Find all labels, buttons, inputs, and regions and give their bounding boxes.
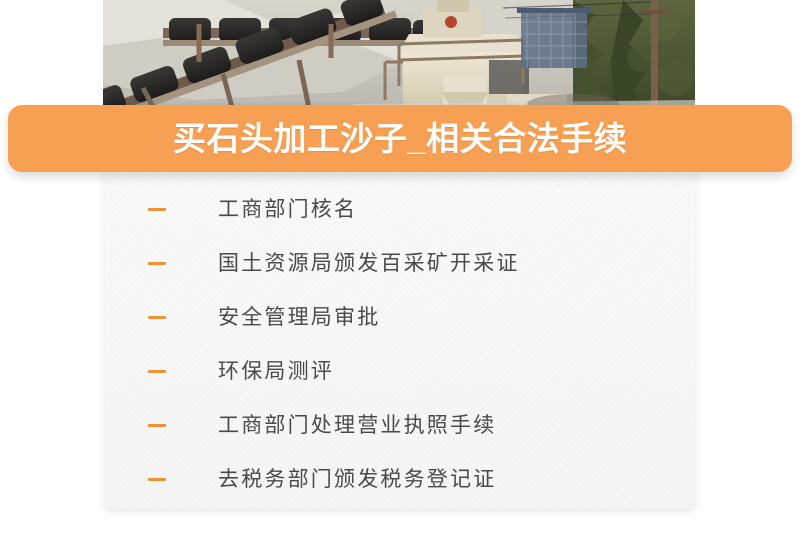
list-item-label: 去税务部门颁发税务登记证: [218, 469, 496, 490]
list-item-label: 工商部门核名: [218, 199, 357, 220]
list-item: 工商部门处理营业执照手续: [105, 398, 695, 452]
list-item: 安全管理局审批: [105, 290, 695, 344]
page-canvas: 买石头加工沙子_相关合法手续 工商部门核名 国土资源局颁发百采矿开采证 安全管理…: [0, 0, 800, 544]
dash-icon: [148, 370, 166, 373]
list-item: 环保局测评: [105, 344, 695, 398]
hero-image: [103, 0, 695, 118]
list-item: 工商部门核名: [105, 182, 695, 236]
requirements-list: 工商部门核名 国土资源局颁发百采矿开采证 安全管理局审批 环保局测评 工商部门处…: [105, 172, 695, 506]
page-title: 买石头加工沙子_相关合法手续: [173, 122, 627, 155]
list-item-label: 工商部门处理营业执照手续: [218, 415, 496, 436]
list-item-label: 安全管理局审批: [218, 307, 380, 328]
dash-icon: [148, 208, 166, 211]
dash-icon: [148, 478, 166, 481]
list-item-label: 环保局测评: [218, 361, 334, 382]
list-item: 国土资源局颁发百采矿开采证: [105, 236, 695, 290]
title-banner: 买石头加工沙子_相关合法手续: [8, 105, 792, 172]
dash-icon: [148, 316, 166, 319]
dash-icon: [148, 424, 166, 427]
list-item-label: 国土资源局颁发百采矿开采证: [218, 253, 520, 274]
list-item: 去税务部门颁发税务登记证: [105, 452, 695, 506]
dash-icon: [148, 262, 166, 265]
quarry-crusher-photo: [103, 0, 695, 118]
